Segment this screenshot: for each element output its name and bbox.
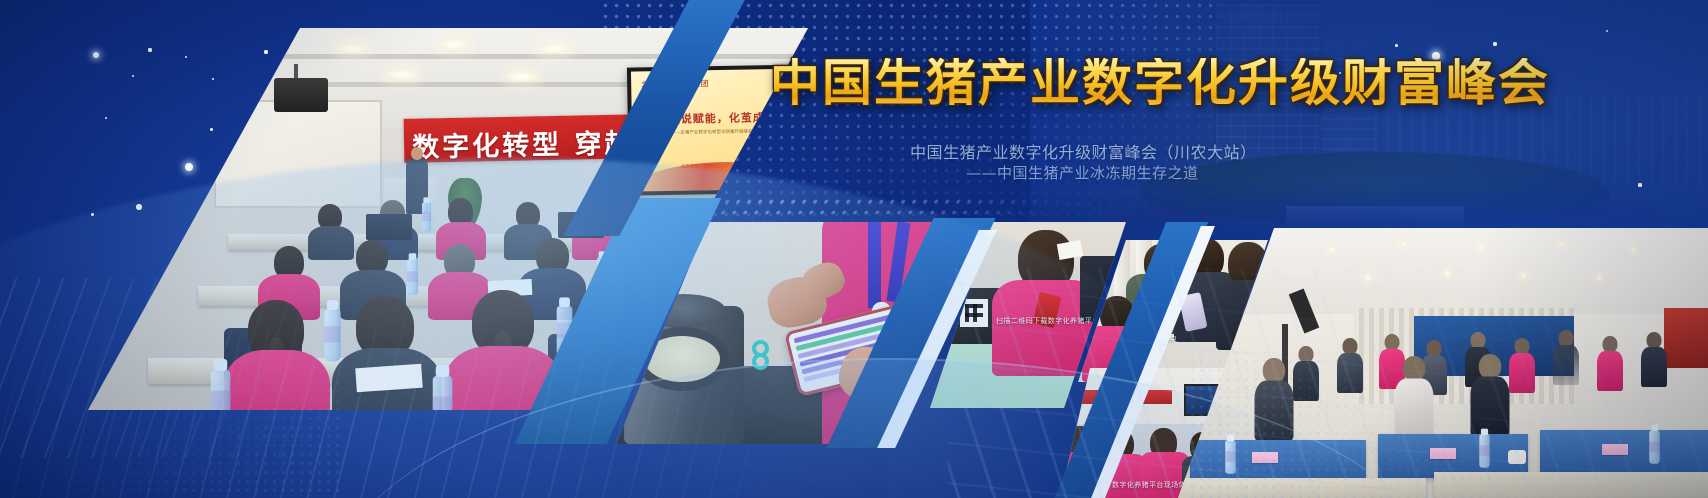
banner-main-title: 中国生猪产业数字化升级财富峰会 [770, 58, 1550, 108]
dot-pattern-bottom-right [1188, 348, 1708, 498]
ceiling-light [1558, 240, 1565, 247]
ceiling-beam [278, 54, 808, 59]
ceiling-light [1478, 244, 1485, 251]
ceiling-light [540, 44, 568, 53]
title-block: 中国生猪产业数字化升级财富峰会 [770, 58, 1550, 108]
projector [274, 78, 328, 112]
dot-pattern-bottom-left [0, 378, 340, 498]
ceiling-light [338, 44, 366, 53]
event-banner: 四川农业大学 Sichuan Agricultural University [0, 0, 1708, 498]
ceiling-light [1400, 240, 1407, 247]
banner-subtitle-line2: ——中国生猪产业冰冻期生存之道 [966, 162, 1199, 183]
ceiling-light [1630, 246, 1637, 253]
ceiling-light [508, 72, 536, 81]
ceiling-light [388, 70, 416, 79]
banner-subtitle-line1: 中国生猪产业数字化升级财富峰会（川农大站） [910, 139, 1257, 163]
ceiling-light [440, 40, 468, 49]
ceiling-light [1328, 246, 1335, 253]
